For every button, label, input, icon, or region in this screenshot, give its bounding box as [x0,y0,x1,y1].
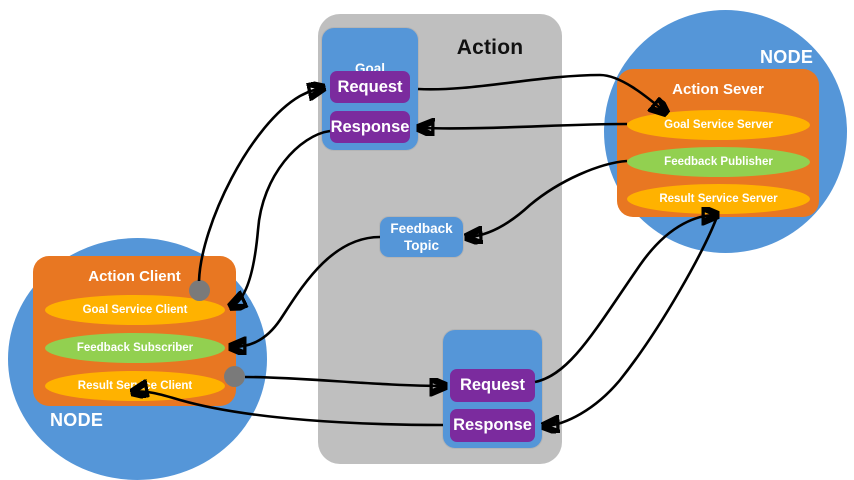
node-server-label: NODE [760,47,813,68]
result-service-client-ellipse[interactable]: Result Service Client [45,371,225,401]
result-service-server-ellipse[interactable]: Result Service Server [627,184,810,214]
goal-service-server-ellipse[interactable]: Goal Service Server [627,110,810,140]
feedback-topic[interactable]: Feedback Topic [380,217,463,257]
node-client-label: NODE [50,410,103,431]
action-server-title: Action Sever [617,81,819,98]
result-client-junction-dot [224,366,245,387]
feedback-topic-line1: Feedback [390,221,452,236]
arrow-goal-response-to-client [232,131,330,306]
result-service-request[interactable]: Request [450,369,535,402]
result-service-response[interactable]: Response [450,409,535,442]
feedback-publisher-ellipse[interactable]: Feedback Publisher [627,147,810,177]
feedback-subscriber-ellipse[interactable]: Feedback Subscriber [45,333,225,363]
arrow-client-to-goal-request [199,88,322,281]
goal-client-junction-dot [189,280,210,301]
action-diagram-canvas: Action Goal Service Request Response Fee… [0,0,854,480]
action-panel-title: Action [430,36,550,60]
goal-service-request[interactable]: Request [330,71,410,103]
goal-service-response[interactable]: Response [330,111,410,143]
feedback-topic-line2: Topic [404,238,439,253]
